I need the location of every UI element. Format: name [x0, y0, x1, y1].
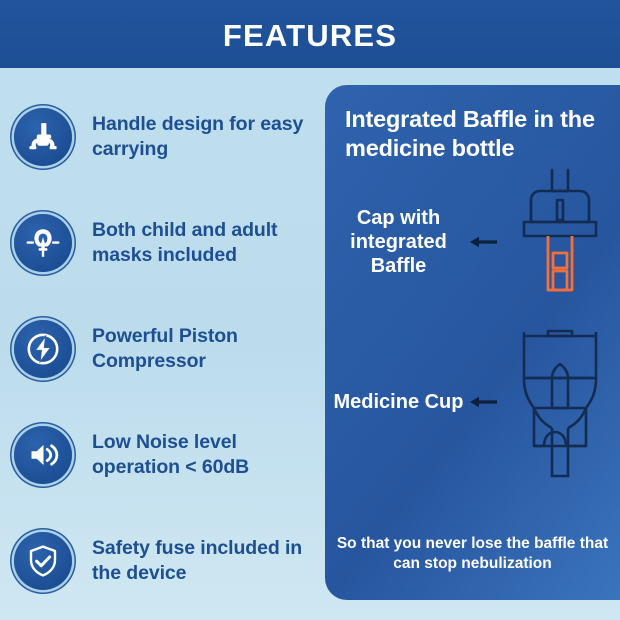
diagram-cap-with-baffle: Cap with integrated Baffle — [325, 162, 620, 322]
feature-list: Handle design for easy carrying Both chi… — [0, 68, 325, 620]
medicine-cup-diagram — [500, 326, 620, 478]
speaker-volume-icon — [14, 426, 72, 484]
panel-caption: So that you never lose the baffle that c… — [325, 534, 620, 574]
feature-item-masks-included: Both child and adult masks included — [0, 190, 325, 296]
page-title: FEATURES — [223, 20, 397, 51]
feature-item-handle-design: Handle design for easy carrying — [0, 84, 325, 190]
shield-check-icon — [14, 532, 72, 590]
feature-label: Powerful Piston Compressor — [92, 324, 314, 374]
lightning-bolt-icon — [14, 320, 72, 378]
feature-label: Low Noise level operation < 60dB — [92, 430, 314, 480]
feature-item-safety-fuse: Safety fuse included in the device — [0, 508, 325, 614]
feature-label: Both child and adult masks included — [92, 218, 314, 268]
arrow-left-icon — [466, 233, 500, 251]
features-infographic: FEATURES Handle design for easy carrying — [0, 0, 620, 620]
diagram-label: Cap with integrated Baffle — [325, 206, 466, 278]
handle-grip-icon — [14, 108, 72, 166]
panel-title: Integrated Baffle in the medicine bottle — [325, 85, 620, 162]
integrated-baffle-panel: Integrated Baffle in the medicine bottle… — [325, 85, 620, 600]
feature-label: Safety fuse included in the device — [92, 536, 314, 586]
cap-with-baffle-diagram — [500, 167, 620, 317]
feature-label: Handle design for easy carrying — [92, 112, 314, 162]
diagram-medicine-cup: Medicine Cup — [325, 322, 620, 482]
feature-item-piston-compressor: Powerful Piston Compressor — [0, 296, 325, 402]
nebulizer-mask-icon — [14, 214, 72, 272]
feature-item-low-noise: Low Noise level operation < 60dB — [0, 402, 325, 508]
arrow-left-icon — [466, 393, 500, 411]
header-band: FEATURES — [0, 0, 620, 68]
diagram-label: Medicine Cup — [325, 390, 466, 414]
